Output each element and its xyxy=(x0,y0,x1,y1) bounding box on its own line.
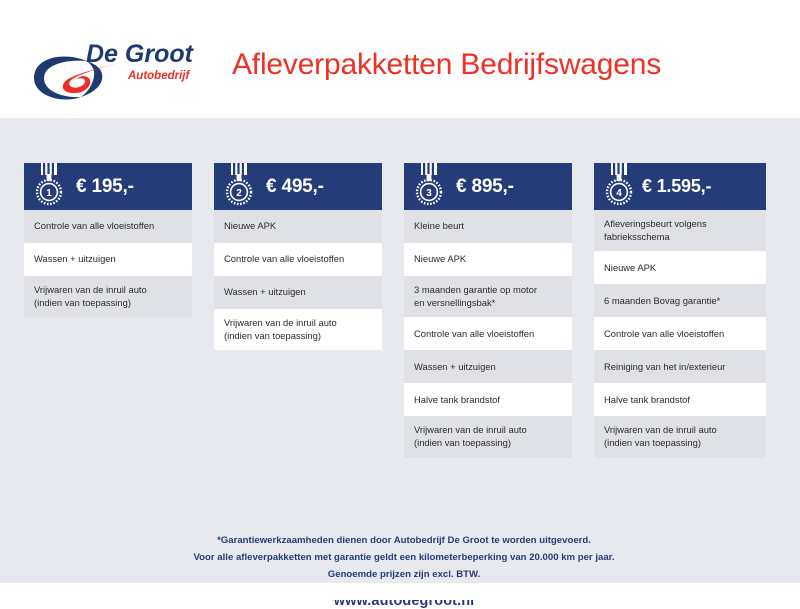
list-item: Vrijwaren van de inruil auto(indien van … xyxy=(404,416,572,457)
package-column-4: 4 € 1.595,- Afleveringsbeurt volgensfabr… xyxy=(594,163,766,458)
list-item: Controle van alle vloeistoffen xyxy=(594,317,766,350)
medal-number: 3 xyxy=(426,188,432,199)
package-items-4: Afleveringsbeurt volgensfabrieksschema N… xyxy=(594,210,766,458)
disclaimer-line-2: Voor alle afleverpakketten met garantie … xyxy=(24,550,784,567)
content-panel: 1 € 195,- Controle van alle vloeistoffen… xyxy=(0,118,800,583)
list-item: 3 maanden garantie op motoren versnellin… xyxy=(404,276,572,317)
list-item: Kleine beurt xyxy=(404,210,572,243)
item-text: Kleine beurt xyxy=(414,220,464,233)
item-text: Afleveringsbeurt volgensfabrieksschema xyxy=(604,218,707,243)
package-price: € 895,- xyxy=(456,176,514,198)
item-text: Vrijwaren van de inruil auto(indien van … xyxy=(604,424,717,449)
medal-number: 4 xyxy=(616,188,622,199)
disclaimer-line-3: Genoemde prijzen zijn excl. BTW. xyxy=(24,567,784,584)
package-price: € 1.595,- xyxy=(642,176,711,197)
medal-icon: 2 xyxy=(222,163,256,207)
package-header-3: 3 € 895,- xyxy=(404,163,572,210)
list-item: Wassen + uitzuigen xyxy=(214,276,382,309)
list-item: Wassen + uitzuigen xyxy=(404,350,572,383)
item-text: Vrijwaren van de inruil auto(indien van … xyxy=(414,424,527,449)
page-title: Afleverpakketten Bedrijfswagens xyxy=(232,48,661,82)
item-text: Controle van alle vloeistoffen xyxy=(224,253,344,266)
package-header-2: 2 € 495,- xyxy=(214,163,382,210)
package-header-4: 4 € 1.595,- xyxy=(594,163,766,210)
list-item: Controle van alle vloeistoffen xyxy=(214,243,382,276)
medal-icon: 3 xyxy=(412,163,446,207)
list-item: Reiniging van het in/exterieur xyxy=(594,350,766,383)
item-text: Nieuwe APK xyxy=(604,262,656,275)
item-text: Controle van alle vloeistoffen xyxy=(604,328,724,341)
package-items-1: Controle van alle vloeistoffen Wassen + … xyxy=(24,210,192,317)
list-item: Vrijwaren van de inruil auto(indien van … xyxy=(24,276,192,317)
logo-wordmark: De Groot xyxy=(86,40,195,68)
item-text: Nieuwe APK xyxy=(414,253,466,266)
list-item: Nieuwe APK xyxy=(594,251,766,284)
item-text: 3 maanden garantie op motoren versnellin… xyxy=(414,284,537,309)
company-logo[interactable]: De Groot Autobedrijf xyxy=(24,34,214,104)
item-text: Nieuwe APK xyxy=(224,220,276,233)
list-item: Controle van alle vloeistoffen xyxy=(404,317,572,350)
list-item: Vrijwaren van de inruil auto(indien van … xyxy=(594,416,766,457)
de-groot-logo-icon: De Groot Autobedrijf xyxy=(24,34,214,104)
medal-number: 1 xyxy=(46,188,52,199)
list-item: Afleveringsbeurt volgensfabrieksschema xyxy=(594,210,766,251)
package-header-1: 1 € 195,- xyxy=(24,163,192,210)
disclaimer-line-1: *Garantiewerkzaamheden dienen door Autob… xyxy=(24,533,784,550)
item-text: Halve tank brandstof xyxy=(414,394,500,407)
list-item: Controle van alle vloeistoffen xyxy=(24,210,192,243)
list-item: Vrijwaren van de inruil auto(indien van … xyxy=(214,309,382,350)
package-column-2: 2 € 495,- Nieuwe APK Controle van alle v… xyxy=(214,163,382,350)
list-item: Nieuwe APK xyxy=(214,210,382,243)
page-header: De Groot Autobedrijf Afleverpakketten Be… xyxy=(0,0,800,118)
list-item: Halve tank brandstof xyxy=(404,383,572,416)
item-text: Controle van alle vloeistoffen xyxy=(414,328,534,341)
list-item: Wassen + uitzuigen xyxy=(24,243,192,276)
item-text: Vrijwaren van de inruil auto(indien van … xyxy=(34,284,147,309)
item-text: Vrijwaren van de inruil auto(indien van … xyxy=(224,317,337,342)
medal-icon: 4 xyxy=(602,163,636,207)
item-text: Wassen + uitzuigen xyxy=(414,361,496,374)
package-column-1: 1 € 195,- Controle van alle vloeistoffen… xyxy=(24,163,192,317)
disclaimer-text: *Garantiewerkzaamheden dienen door Autob… xyxy=(24,533,784,583)
logo-tagline: Autobedrijf xyxy=(127,70,190,82)
item-text: Halve tank brandstof xyxy=(604,394,690,407)
package-price: € 495,- xyxy=(266,176,324,198)
item-text: Wassen + uitzuigen xyxy=(34,253,116,266)
package-items-3: Kleine beurt Nieuwe APK 3 maanden garant… xyxy=(404,210,572,458)
medal-icon: 1 xyxy=(32,163,66,207)
medal-number: 2 xyxy=(236,188,242,199)
item-text: 6 maanden Bovag garantie* xyxy=(604,295,720,308)
item-text: Controle van alle vloeistoffen xyxy=(34,220,154,233)
footer-spacer xyxy=(0,583,800,600)
list-item: 6 maanden Bovag garantie* xyxy=(594,284,766,317)
page-root: De Groot Autobedrijf Afleverpakketten Be… xyxy=(0,0,800,600)
package-items-2: Nieuwe APK Controle van alle vloeistoffe… xyxy=(214,210,382,350)
list-item: Halve tank brandstof xyxy=(594,383,766,416)
item-text: Wassen + uitzuigen xyxy=(224,286,306,299)
package-price: € 195,- xyxy=(76,176,134,198)
list-item: Nieuwe APK xyxy=(404,243,572,276)
item-text: Reiniging van het in/exterieur xyxy=(604,361,725,374)
package-column-3: 3 € 895,- Kleine beurt Nieuwe APK 3 maan… xyxy=(404,163,572,458)
